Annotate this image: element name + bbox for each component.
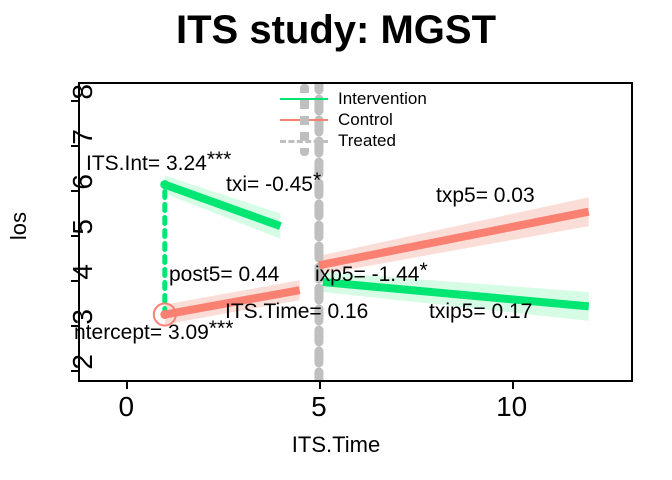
annotation-its-int: ITS.Int= 3.24*** [86,153,231,174]
y-axis-tick-label: 8 [69,84,97,100]
significance-stars: *** [209,317,234,340]
annotation-txip5: txip5= 0.17 [429,301,532,322]
y-axis-tick-label: 6 [69,174,97,190]
legend-interruption-marker [300,84,309,156]
y-axis-tick [71,280,80,282]
significance-stars: *** [207,148,232,171]
y-axis-tick [71,190,80,192]
chart-title: ITS study: MGST [0,8,672,53]
annotation-txi: txi= -0.45* [226,174,321,195]
x-axis-tick [319,380,321,389]
y-axis-tick-label: 5 [69,219,97,235]
annotation-post5: post5= 0.44 [169,264,279,285]
y-axis-tick [71,145,80,147]
x-axis-tick [126,380,128,389]
annotation-its-time: ITS.Time= 0.16 [225,301,368,322]
x-axis-title: ITS.Time [0,432,672,458]
x-axis-tick-label: 10 [496,393,527,421]
annotation-txp5: txp5= 0.03 [436,185,535,206]
legend-label: Control [338,109,393,130]
legend-item: Treated [280,130,480,151]
legend-item: Intervention [280,88,480,109]
trend-line [319,212,589,266]
annotation-intercept: ntercept= 3.09*** [74,322,233,343]
y-axis-tick-label: 2 [69,354,97,370]
y-axis-tick [71,235,80,237]
chart-canvas: ITS study: MGST los ITS.Time 23456780510… [0,0,672,480]
y-axis-tick-label: 7 [69,129,97,145]
y-axis-tick [71,370,80,372]
significance-stars: * [420,259,428,282]
y-axis-tick-label: 4 [69,264,97,280]
control-baseline-point-dot [160,310,169,319]
significance-stars: * [313,169,321,192]
annotation-ixp5: ixp5= -1.44* [315,264,428,285]
x-axis-tick [512,380,514,389]
legend-label: Treated [338,130,396,151]
x-axis-tick-label: 0 [118,393,134,421]
y-axis-title: los [6,212,32,240]
legend-label: Intervention [338,88,427,109]
chart-legend: InterventionControlTreated [280,88,480,151]
intervention-baseline-point-dot [160,180,169,189]
legend-item: Control [280,109,480,130]
x-axis-tick-label: 5 [311,393,327,421]
y-axis-tick [71,100,80,102]
